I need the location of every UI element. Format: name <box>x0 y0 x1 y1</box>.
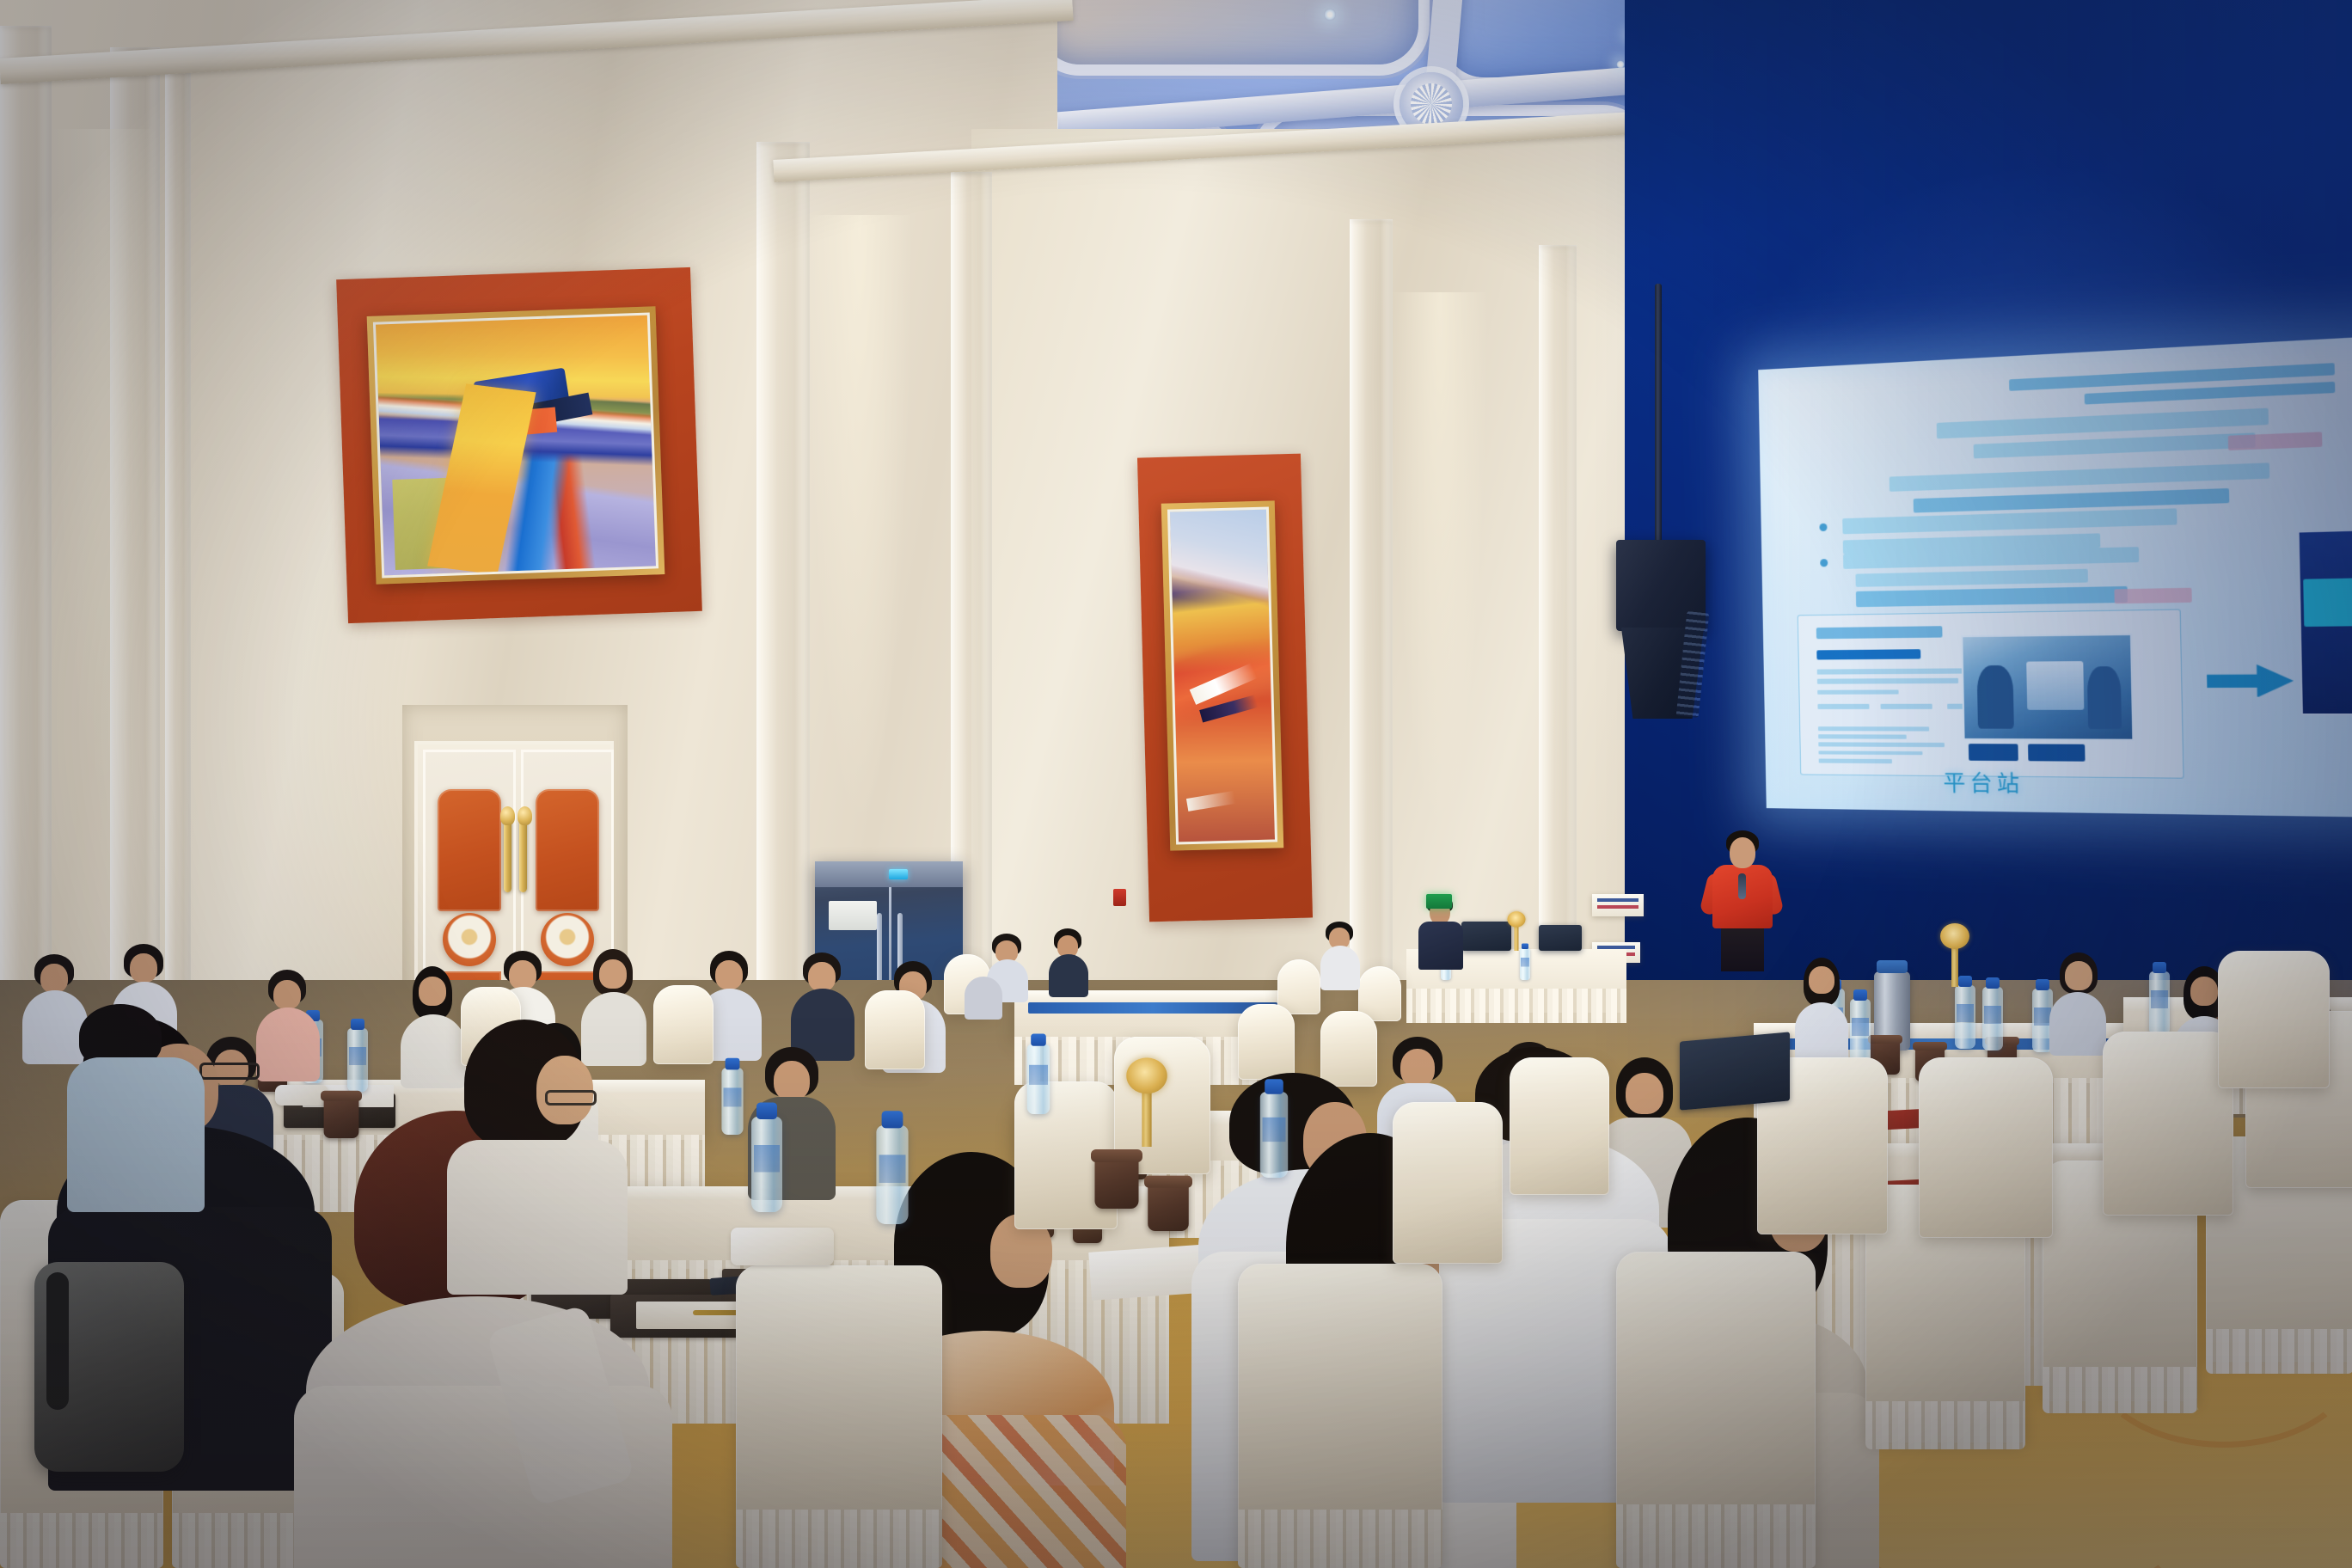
door-medallion <box>541 913 594 966</box>
table-skirt <box>1406 989 1626 1023</box>
wall-signage <box>1592 894 1644 916</box>
banquet-chair <box>1510 1057 1609 1195</box>
door-handle[interactable] <box>504 818 511 892</box>
attendee-body <box>1320 946 1360 990</box>
door-medallion <box>443 913 496 966</box>
attendee-head <box>2190 977 2218 1006</box>
banquet-chair <box>1277 959 1320 1014</box>
attendee-body <box>256 1008 320 1081</box>
attendee-body <box>2049 992 2106 1056</box>
attendee-head <box>808 962 836 991</box>
photo-monitor <box>2026 661 2084 710</box>
slide-caption: 平台站 <box>1943 766 2024 799</box>
wall-pilaster <box>1539 245 1577 1027</box>
wall-pilaster <box>1350 219 1393 1019</box>
mobile-app-mockup <box>2297 526 2352 715</box>
wall-pilaster <box>165 60 191 1023</box>
backpack-strap <box>46 1272 69 1410</box>
water-bottle <box>1027 1044 1050 1114</box>
water-bottle <box>751 1117 782 1212</box>
attendee-body <box>22 990 88 1064</box>
wall-pilaster <box>756 142 810 1001</box>
banquet-chair <box>653 985 714 1064</box>
door-knob[interactable] <box>500 806 515 825</box>
presenter-head <box>1730 837 1755 868</box>
slide-bullet-marker <box>1819 524 1827 531</box>
table-number-stand <box>1142 1089 1151 1147</box>
banquet-chair <box>1919 1057 2053 1238</box>
chair-skirt <box>1616 1504 1816 1568</box>
laptop[interactable] <box>1539 925 1582 951</box>
fire-alarm-box <box>1113 889 1126 906</box>
attendee-body <box>965 977 1002 1020</box>
laptop[interactable] <box>1461 922 1511 951</box>
chair-skirt <box>2206 1329 2352 1374</box>
slide-detail-card <box>1798 609 2184 779</box>
water-bottle <box>721 1068 743 1135</box>
slide-photo-thumbnail <box>1961 634 2134 741</box>
water-bottle <box>1982 987 2003 1050</box>
attendee-head <box>715 960 743 989</box>
banquet-chair <box>1238 1004 1295 1080</box>
chair-skirt <box>0 1513 163 1568</box>
banquet-chair <box>1320 1011 1377 1087</box>
attendee-body <box>581 992 646 1066</box>
slide-bullet-marker <box>1820 559 1828 567</box>
attendee-head <box>40 964 68 993</box>
attendee-head <box>2065 961 2092 990</box>
photo-figure <box>1976 665 2014 728</box>
water-bottle <box>1955 985 1975 1049</box>
table-runner <box>1028 1002 1277 1014</box>
attendee-head <box>599 959 627 989</box>
water-bottle <box>1520 948 1530 980</box>
eyeglasses-icon <box>545 1090 597 1106</box>
door-panel <box>536 789 599 911</box>
water-bottle <box>347 1028 368 1092</box>
banquet-chair <box>1393 1102 1503 1264</box>
attendee-body <box>1049 954 1088 997</box>
abstract-landscape-painting <box>367 306 665 585</box>
abstract-figure-painting <box>1161 500 1284 850</box>
attendee-head <box>774 1061 810 1100</box>
door-panel <box>438 789 501 911</box>
attendee-head <box>509 960 536 989</box>
projection-screen: 平台站 <box>1758 335 2352 818</box>
attendee-head <box>273 980 301 1009</box>
laptop[interactable] <box>1680 1032 1790 1110</box>
photo-caption-button <box>2028 744 2086 762</box>
speaker-hanging-pole <box>1655 284 1662 550</box>
photo-figure <box>2086 667 2122 729</box>
attendee-body <box>67 1057 205 1212</box>
door-knob[interactable] <box>518 806 532 825</box>
water-bottle <box>2149 971 2170 1035</box>
microphone <box>1738 873 1746 899</box>
water-bottle <box>876 1125 908 1224</box>
card-title-bar <box>1816 626 1942 639</box>
tea-cup <box>1148 1183 1189 1231</box>
ceiling-downlight <box>1324 9 1336 21</box>
ceiling-downlight <box>1616 60 1625 69</box>
chair-skirt <box>736 1510 942 1568</box>
attendee-body <box>1418 922 1463 970</box>
right-arrow-icon <box>2207 664 2294 697</box>
attendee-head <box>130 953 157 983</box>
table-number-stand <box>1951 946 1958 987</box>
fridge-indicator-light <box>889 869 908 879</box>
door-handle[interactable] <box>519 818 527 892</box>
photo-caption-button <box>1969 744 2018 761</box>
attendee-body <box>447 1140 628 1295</box>
presenter-skirt <box>1721 923 1764 971</box>
banquet-chair <box>2218 951 2330 1088</box>
water-bottle <box>1850 999 1871 1063</box>
attendee-body <box>401 1014 466 1088</box>
banquet-chair <box>2103 1032 2233 1216</box>
fridge-label <box>829 901 877 930</box>
folded-napkin <box>731 1228 834 1265</box>
banquet-chair <box>865 990 925 1069</box>
table-number-stand <box>1515 925 1519 951</box>
attendee-head <box>1400 1049 1435 1087</box>
phone-cyan-label <box>2303 579 2352 627</box>
conference-hall-photo: 平台站 <box>0 0 2352 1568</box>
attendee-head <box>1626 1073 1663 1114</box>
attendee-head <box>1809 966 1834 994</box>
wall-pilaster <box>110 47 160 1019</box>
wall-pilaster <box>0 26 52 1006</box>
chair-skirt <box>1865 1401 2025 1449</box>
tea-cup <box>1095 1157 1139 1209</box>
eyeglasses-icon <box>199 1063 260 1080</box>
exit-sign <box>1426 894 1452 909</box>
signage-text-rows <box>1597 898 1638 913</box>
attendee-body <box>1795 1002 1848 1063</box>
card-badge <box>1817 649 1920 659</box>
chair-skirt <box>2043 1367 2197 1413</box>
attendee-head <box>419 977 446 1006</box>
water-bottle <box>1260 1092 1288 1178</box>
chair-skirt <box>1238 1510 1442 1568</box>
tea-cup <box>324 1097 359 1138</box>
